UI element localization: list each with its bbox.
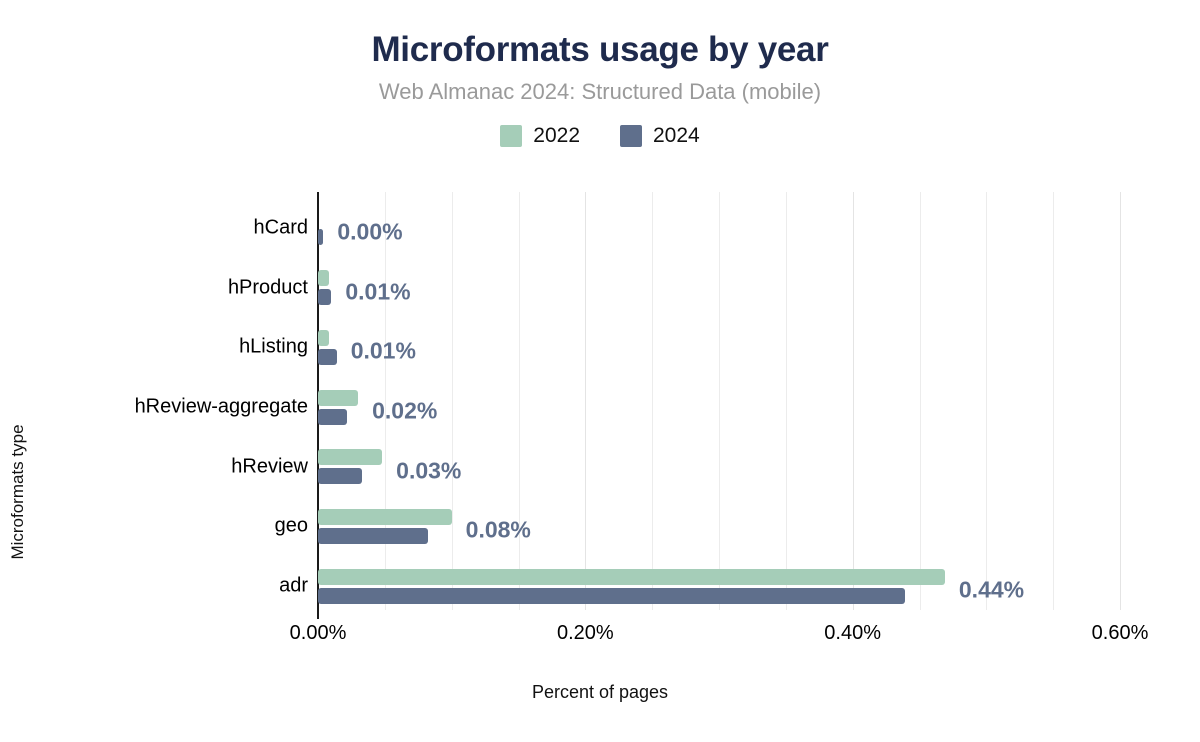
bar-hReview-2022[interactable] bbox=[318, 449, 382, 465]
chart-legend: 20222024 bbox=[0, 124, 1200, 148]
y-axis-label-hCard: hCard bbox=[60, 216, 308, 239]
legend-item-label: 2024 bbox=[653, 124, 700, 148]
y-axis-tick-labels: hCardhProducthListinghReview-aggregatehR… bbox=[60, 192, 308, 610]
gridline bbox=[452, 192, 453, 610]
y-axis-label-hReview-aggregate: hReview-aggregate bbox=[60, 396, 308, 419]
y-axis-title: Microformats type bbox=[8, 424, 28, 559]
bar-value-label-hCard: 0.00% bbox=[337, 218, 402, 245]
x-tick-mark bbox=[317, 610, 319, 619]
x-tick-label-0: 0.00% bbox=[290, 622, 347, 645]
x-axis-ticks: 0.00%0.20%0.40%0.60% bbox=[318, 610, 1120, 650]
gridline bbox=[920, 192, 921, 610]
bar-hProduct-2024[interactable] bbox=[318, 289, 331, 305]
bar-hProduct-2022[interactable] bbox=[318, 270, 329, 286]
chart-page: { "chart_data": { "type": "bar", "orient… bbox=[0, 0, 1200, 742]
gridline bbox=[652, 192, 653, 610]
plot-area: 0.00%0.01%0.01%0.02%0.03%0.08%0.44% bbox=[318, 192, 1120, 610]
bar-value-label-hReview: 0.03% bbox=[396, 457, 461, 484]
y-axis-label-hProduct: hProduct bbox=[60, 276, 308, 299]
bar-adr-2022[interactable] bbox=[318, 569, 945, 585]
y-axis-label-geo: geo bbox=[60, 515, 308, 538]
bar-hListing-2024[interactable] bbox=[318, 349, 337, 365]
gridline bbox=[986, 192, 987, 610]
bar-value-label-adr: 0.44% bbox=[959, 577, 1024, 604]
x-tick-label-3: 0.60% bbox=[1092, 622, 1149, 645]
bar-hCard-2024[interactable] bbox=[318, 229, 323, 245]
bar-geo-2024[interactable] bbox=[318, 528, 428, 544]
plot-wrapper: Microformats type hCardhProducthListingh… bbox=[0, 182, 1200, 742]
bar-value-label-hListing: 0.01% bbox=[351, 338, 416, 365]
chart-subtitle: Web Almanac 2024: Structured Data (mobil… bbox=[0, 79, 1200, 105]
bar-geo-2022[interactable] bbox=[318, 509, 452, 525]
legend-item-2024[interactable]: 2024 bbox=[620, 124, 700, 148]
legend-item-2022[interactable]: 2022 bbox=[500, 124, 580, 148]
gridline bbox=[719, 192, 720, 610]
legend-swatch-icon bbox=[620, 125, 642, 147]
chart-header: Microformats usage by year Web Almanac 2… bbox=[0, 0, 1200, 148]
gridline bbox=[519, 192, 520, 610]
bar-value-label-geo: 0.08% bbox=[466, 517, 531, 544]
gridline bbox=[853, 192, 854, 610]
y-axis-label-adr: adr bbox=[60, 575, 308, 598]
legend-swatch-icon bbox=[500, 125, 522, 147]
x-tick-label-2: 0.40% bbox=[824, 622, 881, 645]
gridline bbox=[1053, 192, 1054, 610]
y-axis-label-hListing: hListing bbox=[60, 336, 308, 359]
x-tick-label-1: 0.20% bbox=[557, 622, 614, 645]
gridline bbox=[786, 192, 787, 610]
x-axis-title: Percent of pages bbox=[0, 682, 1200, 703]
gridline bbox=[585, 192, 586, 610]
bar-hReview-aggregate-2024[interactable] bbox=[318, 409, 347, 425]
bar-hReview-2024[interactable] bbox=[318, 468, 362, 484]
bar-value-label-hReview-aggregate: 0.02% bbox=[372, 398, 437, 425]
bar-value-label-hProduct: 0.01% bbox=[345, 278, 410, 305]
y-axis-label-hReview: hReview bbox=[60, 455, 308, 478]
legend-item-label: 2022 bbox=[533, 124, 580, 148]
gridline bbox=[1120, 192, 1121, 610]
bar-hReview-aggregate-2022[interactable] bbox=[318, 390, 358, 406]
page-title: Microformats usage by year bbox=[0, 30, 1200, 69]
bar-hListing-2022[interactable] bbox=[318, 330, 329, 346]
bar-adr-2024[interactable] bbox=[318, 588, 905, 604]
